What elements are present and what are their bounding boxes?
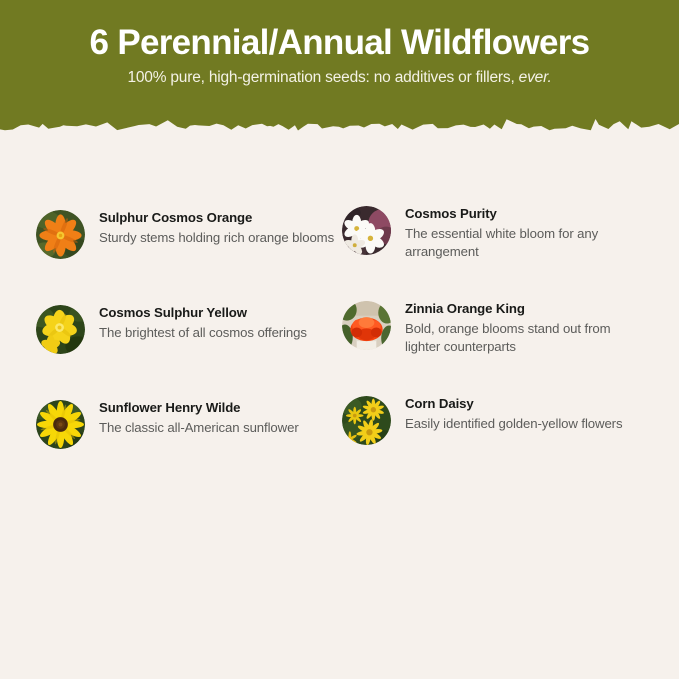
banner-content: 6 Perennial/Annual Wildflowers 100% pure… xyxy=(0,0,679,126)
item-description: The essential white bloom for any arrang… xyxy=(405,225,641,261)
item-name: Sulphur Cosmos Orange xyxy=(99,210,334,227)
infographic-page: 6 Perennial/Annual Wildflowers 100% pure… xyxy=(0,0,679,679)
page-title: 6 Perennial/Annual Wildflowers xyxy=(90,24,590,62)
list-item: Corn Daisy Easily identified golden-yell… xyxy=(342,386,648,445)
header-banner: 6 Perennial/Annual Wildflowers 100% pure… xyxy=(0,0,679,140)
item-description: Sturdy stems holding rich orange blooms xyxy=(99,229,334,247)
sunflower-thumbnail-icon xyxy=(36,400,85,449)
list-item: Cosmos Purity The essential white bloom … xyxy=(342,196,648,261)
yellow-cosmos-flower-thumbnail-icon xyxy=(36,305,85,354)
page-subtitle-emphasis: ever. xyxy=(519,69,552,86)
grid-cell: Zinnia Orange King Bold, orange blooms s… xyxy=(342,291,648,386)
item-text-block: Sulphur Cosmos Orange Sturdy stems holdi… xyxy=(85,196,334,247)
page-subtitle-lead: 100% pure, high-germination seeds: no ad… xyxy=(127,69,518,86)
item-description: Easily identified golden-yellow flowers xyxy=(405,415,622,433)
list-item: Sunflower Henry Wilde The classic all-Am… xyxy=(36,386,342,449)
item-text-block: Cosmos Purity The essential white bloom … xyxy=(391,196,641,261)
item-text-block: Corn Daisy Easily identified golden-yell… xyxy=(391,386,622,433)
page-subtitle: 100% pure, high-germination seeds: no ad… xyxy=(127,69,551,88)
item-text-block: Cosmos Sulphur Yellow The brightest of a… xyxy=(85,291,307,342)
item-description: The classic all-American sunflower xyxy=(99,419,299,437)
grid-cell: Sunflower Henry Wilde The classic all-Am… xyxy=(36,386,342,481)
orange-cosmos-flower-thumbnail-icon xyxy=(36,210,85,259)
grid-cell: Sulphur Cosmos Orange Sturdy stems holdi… xyxy=(36,196,342,291)
grid-cell: Cosmos Purity The essential white bloom … xyxy=(342,196,648,291)
item-name: Sunflower Henry Wilde xyxy=(99,400,299,417)
list-item: Zinnia Orange King Bold, orange blooms s… xyxy=(342,291,648,356)
flower-variety-grid: Sulphur Cosmos Orange Sturdy stems holdi… xyxy=(0,196,679,481)
grid-cell: Cosmos Sulphur Yellow The brightest of a… xyxy=(36,291,342,386)
list-item: Sulphur Cosmos Orange Sturdy stems holdi… xyxy=(36,196,342,259)
list-item: Cosmos Sulphur Yellow The brightest of a… xyxy=(36,291,342,354)
item-description: The brightest of all cosmos offerings xyxy=(99,324,307,342)
corn-daisy-thumbnail-icon xyxy=(342,396,391,445)
item-name: Cosmos Purity xyxy=(405,206,641,223)
item-name: Cosmos Sulphur Yellow xyxy=(99,305,307,322)
orange-zinnia-flower-thumbnail-icon xyxy=(342,301,391,350)
item-text-block: Zinnia Orange King Bold, orange blooms s… xyxy=(391,291,641,356)
item-text-block: Sunflower Henry Wilde The classic all-Am… xyxy=(85,386,299,437)
grid-cell: Corn Daisy Easily identified golden-yell… xyxy=(342,386,648,481)
item-description: Bold, orange blooms stand out from light… xyxy=(405,320,641,356)
item-name: Corn Daisy xyxy=(405,396,622,413)
white-cosmos-flower-thumbnail-icon xyxy=(342,206,391,255)
item-name: Zinnia Orange King xyxy=(405,301,641,318)
